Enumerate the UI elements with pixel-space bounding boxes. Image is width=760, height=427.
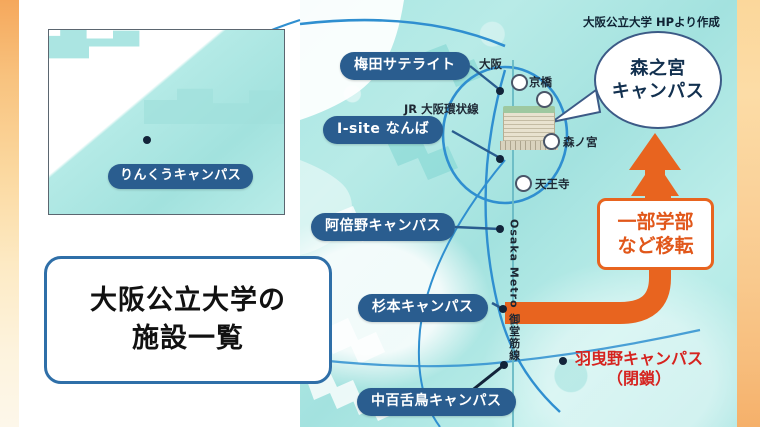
morinomiya-campus-bubble[interactable]: 森之宮 キャンパス <box>594 31 722 129</box>
station-label-morinomiya: 森ノ宮 <box>563 134 598 150</box>
title-line-2: 施設一覧 <box>132 320 244 358</box>
station-label-tennoji: 天王寺 <box>535 176 570 192</box>
title-line-1: 大阪公立大学の <box>90 282 286 320</box>
campus-dot-rinku <box>143 136 151 144</box>
station-marker-tennoji <box>515 175 532 192</box>
relocation-callout: 一部学部 など移転 <box>597 198 714 270</box>
station-marker-kyobashi <box>536 91 553 108</box>
rail-label-osaka-metro-midosuji: Osaka Metro 御堂筋線 <box>507 219 520 361</box>
relocation-line-1: 一部学部 <box>617 210 693 234</box>
rail-label-jr-osaka-loop: JR 大阪環状線 <box>404 101 479 117</box>
left-edge-gradient <box>0 0 19 427</box>
bubble-line-1: 森之宮 <box>630 57 686 80</box>
campus-label-umeda-satellite[interactable]: 梅田サテライト <box>340 52 470 80</box>
campus-label-rinku[interactable]: りんくうキャンパス <box>108 164 253 189</box>
campus-label-sugimoto[interactable]: 杉本キャンパス <box>358 294 488 322</box>
source-credit: 大阪公立大学 HPより作成 <box>583 14 720 30</box>
habikino-status: （閉鎖） <box>575 369 703 389</box>
campus-dot-nakamozu <box>500 361 508 369</box>
relocation-line-2: など移転 <box>617 234 693 258</box>
station-label-osaka: 大阪 <box>479 56 502 72</box>
campus-label-nakamozu[interactable]: 中百舌鳥キャンパス <box>357 388 516 416</box>
habikino-campus-note: 羽曳野キャンパス （閉鎖） <box>575 349 703 389</box>
campus-label-abeno[interactable]: 阿倍野キャンパス <box>311 213 455 241</box>
right-edge-gradient <box>737 0 760 427</box>
campus-dot-sugimoto <box>499 305 507 313</box>
campus-dot-habikino <box>559 357 567 365</box>
habikino-name: 羽曳野キャンパス <box>575 349 703 368</box>
title-box: 大阪公立大学の 施設一覧 <box>44 256 332 384</box>
campus-label-isite-namba[interactable]: I-site なんば <box>323 116 443 144</box>
station-marker-osaka <box>511 74 528 91</box>
station-marker-morinomiya <box>543 133 560 150</box>
campus-dot-abeno <box>496 225 504 233</box>
station-label-kyobashi: 京橋 <box>529 74 552 90</box>
infographic-root: 大阪公立大学 HPより作成 りんくうキャンパス 大阪公立大学の 施設一覧 梅田サ… <box>0 0 760 427</box>
campus-dot-umeda <box>496 87 504 95</box>
bubble-line-2: キャンパス <box>612 80 705 103</box>
campus-dot-isite <box>496 155 504 163</box>
